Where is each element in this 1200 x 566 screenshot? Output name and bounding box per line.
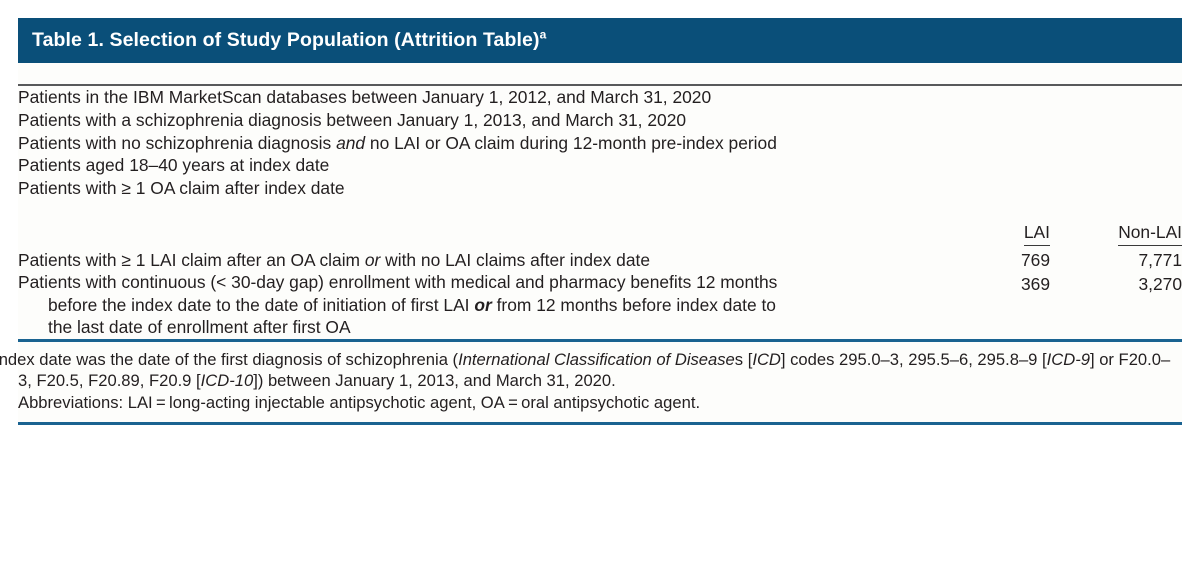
footnote-a-italic2: ICD (752, 350, 781, 369)
footnote-a-italic4: ICD-10 (201, 371, 254, 390)
table-row: Patients with no schizophrenia diagnosis… (18, 132, 1200, 155)
row-label-line2-part2: from 12 months before index date to (492, 295, 776, 315)
column-header-lai: LAI (958, 222, 1050, 249)
title-footnote-marker: a (540, 28, 547, 42)
row-label-part2: with no LAI claims after index date (380, 250, 650, 270)
row-value-non-lai: 3,270 (1050, 271, 1182, 339)
row-value-lai: 769 (958, 249, 1050, 272)
row-label: Patients with a schizophrenia diagnosis … (18, 109, 958, 132)
row-label-line1: Patients with continuous (< 30-day gap) … (18, 272, 777, 292)
row-label: Patients aged 18–40 years at index date (18, 154, 958, 177)
row-value-overall: 98,416,202 (1182, 86, 1200, 109)
column-header-lai-label: LAI (1024, 222, 1050, 246)
footnote-a-part3: ] codes 295.0–3, 295.5–6, 295.8–9 [ (781, 350, 1047, 369)
row-label-emphasis: and (336, 133, 365, 153)
row-value-overall: 79,509 (1182, 109, 1200, 132)
row-label-part2: no LAI or OA claim during 12-month pre-i… (365, 133, 777, 153)
subheader-spacer (18, 222, 958, 249)
header-row-lai-split: LAI Non-LAI (18, 222, 1200, 249)
row-value-overall-empty (1182, 249, 1200, 272)
table-row: Patients with ≥ 1 LAI claim after an OA … (18, 249, 1200, 272)
header-row-overall: Overall (18, 63, 1200, 84)
row-label-part1: Patients with no schizophrenia diagnosis (18, 133, 336, 153)
row-label-line2: before the index date to the date of ini… (18, 294, 958, 317)
row-value-lai: 369 (958, 271, 1050, 339)
table-body-overall: Patients in the IBM MarketScan databases… (18, 86, 1200, 339)
row-label: Patients with continuous (< 30-day gap) … (18, 271, 958, 339)
row-label-line2-part1: before the index date to the date of ini… (48, 295, 474, 315)
page-title: Table 1. Selection of Study Population (… (32, 29, 540, 51)
footnote-a-part1: Index date was the date of the first dia… (0, 350, 458, 369)
subheader-spacer-overall (1182, 222, 1200, 249)
footnote-abbreviations: Abbreviations: LAI = long-acting injecta… (18, 392, 1182, 414)
footnote-a-italic1: International Classification of Disease (458, 350, 735, 369)
row-value-overall: 43,390 (1182, 132, 1200, 155)
footnote-a-part2: s [ (735, 350, 753, 369)
table-header-overall: Overall (18, 63, 1200, 84)
row-label-emphasis: or (365, 250, 380, 270)
table-bottom-rule (18, 422, 1182, 425)
footnote-a: aIndex date was the date of the first di… (18, 349, 1182, 392)
table-row: Patients with ≥ 1 OA claim after index d… (18, 177, 1200, 200)
row-label: Patients in the IBM MarketScan databases… (18, 86, 958, 109)
table-row: Patients with a schizophrenia diagnosis … (18, 109, 1200, 132)
table-title-bar: Table 1. Selection of Study Population (… (18, 18, 1182, 63)
row-value-overall: 8,751 (1182, 177, 1200, 200)
row-spacer (18, 200, 1200, 222)
row-label-line3: the last date of enrollment after first … (18, 316, 958, 339)
footnote-section: aIndex date was the date of the first di… (18, 342, 1182, 423)
row-label: Patients with ≥ 1 LAI claim after an OA … (18, 249, 958, 272)
row-label-line2-emphasis: or (474, 295, 491, 315)
row-value-overall: 19,762 (1182, 154, 1200, 177)
row-label: Patients with no schizophrenia diagnosis… (18, 132, 958, 155)
footnote-a-italic3: ICD-9 (1047, 350, 1090, 369)
column-header-overall: Overall (1182, 63, 1200, 84)
row-label-part1: Patients with ≥ 1 LAI claim after an OA … (18, 250, 365, 270)
row-label: Patients with ≥ 1 OA claim after index d… (18, 177, 958, 200)
row-value-non-lai: 7,771 (1050, 249, 1182, 272)
column-header-non-lai: Non-LAI (1050, 222, 1182, 249)
table-row: Patients in the IBM MarketScan databases… (18, 86, 1200, 109)
table-row: Patients with continuous (< 30-day gap) … (18, 271, 1200, 339)
footnote-a-part5: ]) between January 1, 2013, and March 31… (253, 371, 616, 390)
table-row: Patients aged 18–40 years at index date … (18, 154, 1200, 177)
column-header-non-lai-label: Non-LAI (1118, 222, 1182, 246)
header-spacer-nonlai (1050, 63, 1182, 84)
attrition-table: Table 1. Selection of Study Population (… (18, 18, 1182, 425)
header-spacer-lai (958, 63, 1050, 84)
header-spacer (18, 63, 958, 84)
row-value-overall-empty (1182, 271, 1200, 339)
